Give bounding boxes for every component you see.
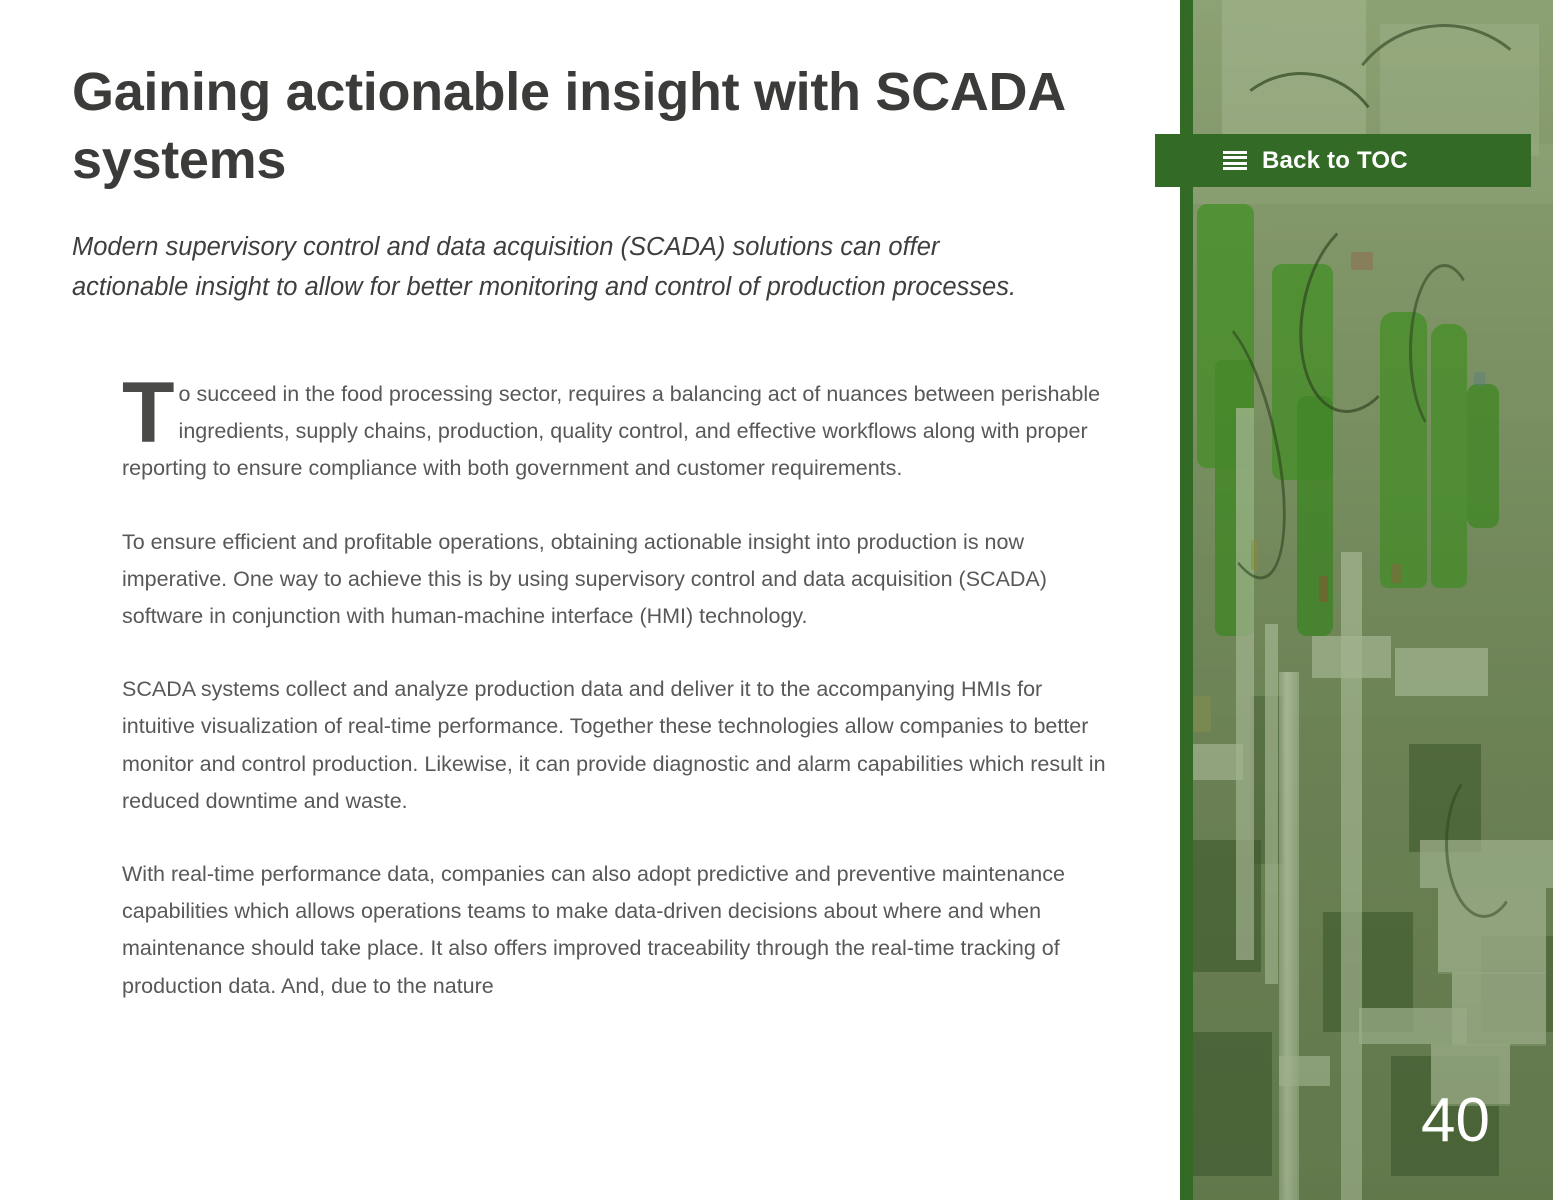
sidebar-image-panel: Back to TOC 40 [1180,0,1553,1200]
article-column: Gaining actionable insight with SCADA sy… [0,0,1180,1200]
body-paragraph-text: o succeed in the food processing sector,… [122,382,1100,480]
page-number: 40 [1421,1090,1490,1152]
body-paragraph: To ensure efficient and profitable opera… [122,524,1117,636]
magazine-page: Gaining actionable insight with SCADA sy… [0,0,1553,1200]
page-title: Gaining actionable insight with SCADA sy… [72,58,1082,194]
body-paragraph-text: With real-time performance data, compani… [122,862,1065,998]
article-body: To succeed in the food processing sector… [122,376,1117,1005]
body-paragraph: SCADA systems collect and analyze produc… [122,671,1117,820]
back-to-toc-button[interactable]: Back to TOC [1155,134,1531,187]
hamburger-icon [1223,151,1247,170]
article-deck: Modern supervisory control and data acqu… [72,228,1052,307]
body-paragraph-text: To ensure efficient and profitable opera… [122,530,1047,628]
body-paragraph: With real-time performance data, compani… [122,856,1117,1005]
drop-cap: T [122,378,175,448]
body-paragraph-text: SCADA systems collect and analyze produc… [122,677,1106,813]
body-paragraph: To succeed in the food processing sector… [122,376,1117,488]
back-to-toc-label: Back to TOC [1262,147,1408,175]
